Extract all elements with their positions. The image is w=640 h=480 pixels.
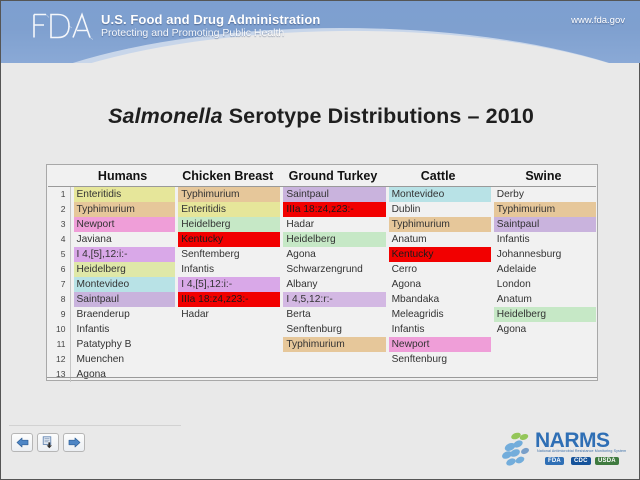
agency-badge-cdc: CDC <box>571 457 591 465</box>
agency-badge-fda: FDA <box>545 457 564 465</box>
cell-chicken-breast: Heidelberg <box>175 217 280 232</box>
page-title: Salmonella Serotype Distributions – 2010 <box>1 104 640 129</box>
serotype-label: I 4,[5],12:i:- <box>178 277 280 292</box>
cell-ground-turkey: Berta <box>280 307 385 322</box>
cell-swine: Typhimurium <box>491 202 596 217</box>
row-number: 2 <box>48 202 70 217</box>
cell-cattle: Dublin <box>386 202 491 217</box>
cell-swine: Infantis <box>491 232 596 247</box>
cell-swine <box>491 367 596 382</box>
serotype-label: Newport <box>389 337 491 352</box>
table-row: 2TyphimuriumEnteritidisIIIa 18:z4,z23:-D… <box>48 202 596 217</box>
serotype-label: Agona <box>494 322 596 337</box>
cell-swine: Saintpaul <box>491 217 596 232</box>
serotype-label: IIIa 18:z4,z23:- <box>283 202 385 217</box>
serotype-label: Cerro <box>389 262 491 277</box>
serotype-label: Albany <box>283 277 385 292</box>
serotype-label: Typhimurium <box>389 217 491 232</box>
cell-swine: London <box>491 277 596 292</box>
fda-website-url[interactable]: www.fda.gov <box>571 15 625 26</box>
cell-chicken-breast <box>175 367 280 382</box>
cell-cattle: Meleagridis <box>386 307 491 322</box>
serotype-label: Muenchen <box>74 352 176 367</box>
cell-cattle: Newport <box>386 337 491 352</box>
cell-cattle: Kentucky <box>386 247 491 262</box>
table-body: 1EnteritidisTyphimuriumSaintpaulMontevid… <box>48 186 596 382</box>
cell-chicken-breast: Kentucky <box>175 232 280 247</box>
serotype-label: Patatyphy B <box>74 337 176 352</box>
row-number: 1 <box>48 186 70 202</box>
serotype-label: Dublin <box>389 202 491 217</box>
serotype-label: Heidelberg <box>283 232 385 247</box>
cell-chicken-breast <box>175 337 280 352</box>
cell-ground-turkey: Agona <box>280 247 385 262</box>
row-number: 10 <box>48 322 70 337</box>
table-row: 1EnteritidisTyphimuriumSaintpaulMontevid… <box>48 186 596 202</box>
serotype-label: Heidelberg <box>494 307 596 322</box>
table-row: 10InfantisSenftenburgInfantisAgona <box>48 322 596 337</box>
serotype-label: Kentucky <box>389 247 491 262</box>
table-header-row: Humans Chicken Breast Ground Turkey Catt… <box>48 166 596 186</box>
table-row: 9BraenderupHadarBertaMeleagridisHeidelbe… <box>48 307 596 322</box>
serotype-label: I 4,5,12:r:- <box>283 292 385 307</box>
cell-humans: Newport <box>70 217 175 232</box>
serotype-label <box>494 367 596 382</box>
cell-ground-turkey: Hadar <box>280 217 385 232</box>
cell-humans: Javiana <box>70 232 175 247</box>
serotype-label: Enteritidis <box>74 187 176 202</box>
row-number: 9 <box>48 307 70 322</box>
fda-title: U.S. Food and Drug Administration <box>101 12 320 27</box>
cell-ground-turkey: Saintpaul <box>280 186 385 202</box>
table-row: 11Patatyphy BTyphimuriumNewport <box>48 337 596 352</box>
cell-ground-turkey: Schwarzengrund <box>280 262 385 277</box>
serotype-label: Heidelberg <box>74 262 176 277</box>
cell-chicken-breast: Infantis <box>175 262 280 277</box>
serotype-label: Enteritidis <box>178 202 280 217</box>
narms-logo: NARMS National Antimicrobial Resistance … <box>501 429 621 473</box>
row-number: 6 <box>48 262 70 277</box>
fda-title-block: U.S. Food and Drug Administration Protec… <box>101 12 320 40</box>
table-row: 7MontevideoI 4,[5],12:i:-AlbanyAgonaLond… <box>48 277 596 292</box>
serotype-label: Infantis <box>74 322 176 337</box>
column-header-cattle: Cattle <box>386 166 491 186</box>
column-header-swine: Swine <box>491 166 596 186</box>
cell-humans: Infantis <box>70 322 175 337</box>
cell-ground-turkey: Heidelberg <box>280 232 385 247</box>
cell-swine: Johannesburg <box>491 247 596 262</box>
serotype-label: Montevideo <box>74 277 176 292</box>
fda-header-band: U.S. Food and Drug Administration Protec… <box>1 1 640 63</box>
serotype-label: Senftemberg <box>178 247 280 262</box>
cell-humans: Patatyphy B <box>70 337 175 352</box>
cell-cattle: Agona <box>386 277 491 292</box>
serotype-label <box>389 367 491 382</box>
cell-humans: Enteritidis <box>70 186 175 202</box>
serotype-label <box>178 337 280 352</box>
serotype-label <box>178 352 280 367</box>
serotype-label: Anatum <box>389 232 491 247</box>
table-row: 4JavianaKentuckyHeidelbergAnatumInfantis <box>48 232 596 247</box>
cell-cattle: Mbandaka <box>386 292 491 307</box>
previous-slide-button[interactable] <box>11 433 33 452</box>
table-bottom-rule <box>47 377 597 378</box>
narms-tagline: National Antimicrobial Resistance Monito… <box>537 449 626 453</box>
serotype-label <box>178 322 280 337</box>
cell-swine <box>491 352 596 367</box>
serotype-label: Javiana <box>74 232 176 247</box>
row-number: 8 <box>48 292 70 307</box>
cell-humans: Montevideo <box>70 277 175 292</box>
cell-ground-turkey: I 4,5,12:r:- <box>280 292 385 307</box>
serotype-label: I 4,[5],12:i:- <box>74 247 176 262</box>
slide-navigation-toolbar <box>11 433 85 452</box>
cell-cattle: Montevideo <box>386 186 491 202</box>
serotype-label <box>283 352 385 367</box>
cell-swine: Anatum <box>491 292 596 307</box>
serotype-label: Newport <box>74 217 176 232</box>
serotype-label: Senftenburg <box>283 322 385 337</box>
table-row: 8SaintpaulIIIa 18:z4,z23:-I 4,5,12:r:-Mb… <box>48 292 596 307</box>
serotype-label: Typhimurium <box>283 337 385 352</box>
slide-viewer: U.S. Food and Drug Administration Protec… <box>0 0 640 480</box>
serotype-label: Typhimurium <box>74 202 176 217</box>
serotype-label: Saintpaul <box>74 292 176 307</box>
serotype-label: Johannesburg <box>494 247 596 262</box>
serotype-label: Derby <box>494 187 596 202</box>
serotype-label: Saintpaul <box>494 217 596 232</box>
serotype-label: Montevideo <box>389 187 491 202</box>
cell-ground-turkey <box>280 367 385 382</box>
serotype-label: Heidelberg <box>178 217 280 232</box>
column-header-ground-turkey: Ground Turkey <box>280 166 385 186</box>
cell-swine: Heidelberg <box>491 307 596 322</box>
cell-cattle: Cerro <box>386 262 491 277</box>
row-number-header <box>48 166 70 186</box>
serotype-label: Hadar <box>283 217 385 232</box>
cell-cattle: Typhimurium <box>386 217 491 232</box>
serotype-label: Anatum <box>494 292 596 307</box>
serotype-label <box>494 352 596 367</box>
fda-subtitle: Protecting and Promoting Public Health <box>101 27 320 40</box>
cell-ground-turkey: Albany <box>280 277 385 292</box>
serotype-label: Braenderup <box>74 307 176 322</box>
serotype-label: Infantis <box>389 322 491 337</box>
serotype-label <box>494 337 596 352</box>
serotype-table-frame: Humans Chicken Breast Ground Turkey Catt… <box>46 164 598 381</box>
cell-swine: Derby <box>491 186 596 202</box>
row-number: 4 <box>48 232 70 247</box>
row-number: 11 <box>48 337 70 352</box>
cell-humans: Braenderup <box>70 307 175 322</box>
cell-cattle: Infantis <box>386 322 491 337</box>
cell-chicken-breast <box>175 322 280 337</box>
cell-chicken-breast: I 4,[5],12:i:- <box>175 277 280 292</box>
serotype-label: Infantis <box>494 232 596 247</box>
serotype-label: Agona <box>74 367 176 382</box>
arrow-right-icon <box>68 437 81 448</box>
cell-cattle: Senftenburg <box>386 352 491 367</box>
serotype-label: Adelaide <box>494 262 596 277</box>
cell-chicken-breast: Typhimurium <box>175 186 280 202</box>
row-number: 13 <box>48 367 70 382</box>
cell-ground-turkey: Typhimurium <box>280 337 385 352</box>
serotype-label: Infantis <box>178 262 280 277</box>
table-row: 5I 4,[5],12:i:-SenftembergAgonaKentuckyJ… <box>48 247 596 262</box>
fda-logo-icon <box>31 11 93 41</box>
cell-swine: Adelaide <box>491 262 596 277</box>
cell-chicken-breast: Senftemberg <box>175 247 280 262</box>
row-number: 7 <box>48 277 70 292</box>
column-header-humans: Humans <box>70 166 175 186</box>
serotype-label: Hadar <box>178 307 280 322</box>
serotype-label: Typhimurium <box>494 202 596 217</box>
serotype-label: Berta <box>283 307 385 322</box>
serotype-label <box>283 367 385 382</box>
cell-chicken-breast: IIIa 18:z4,z23:- <box>175 292 280 307</box>
serotype-label: IIIa 18:z4,z23:- <box>178 292 280 307</box>
cell-swine <box>491 337 596 352</box>
serotype-label: Typhimurium <box>178 187 280 202</box>
cell-humans: Agona <box>70 367 175 382</box>
arrow-left-icon <box>16 437 29 448</box>
cell-ground-turkey: Senftenburg <box>280 322 385 337</box>
cell-cattle <box>386 367 491 382</box>
table-row: 13Agona <box>48 367 596 382</box>
cell-humans: Typhimurium <box>70 202 175 217</box>
serotype-label: London <box>494 277 596 292</box>
page-title-rest: Serotype Distributions – 2010 <box>223 104 534 128</box>
serotype-label: Schwarzengrund <box>283 262 385 277</box>
download-icon <box>42 436 55 449</box>
cell-chicken-breast: Enteritidis <box>175 202 280 217</box>
row-number: 5 <box>48 247 70 262</box>
cell-chicken-breast <box>175 352 280 367</box>
toolbar-divider <box>9 425 181 426</box>
column-header-chicken-breast: Chicken Breast <box>175 166 280 186</box>
serotype-label: Agona <box>283 247 385 262</box>
row-number: 12 <box>48 352 70 367</box>
table-row: 6HeidelbergInfantisSchwarzengrundCerroAd… <box>48 262 596 277</box>
cell-ground-turkey <box>280 352 385 367</box>
serotype-label: Saintpaul <box>283 187 385 202</box>
save-slide-button[interactable] <box>37 433 59 452</box>
cell-cattle: Anatum <box>386 232 491 247</box>
cell-humans: Heidelberg <box>70 262 175 277</box>
table-row: 3NewportHeidelbergHadarTyphimuriumSaintp… <box>48 217 596 232</box>
serotype-table: Humans Chicken Breast Ground Turkey Catt… <box>48 166 596 382</box>
page-title-genus: Salmonella <box>108 104 223 128</box>
cell-humans: Saintpaul <box>70 292 175 307</box>
serotype-label <box>178 367 280 382</box>
cell-humans: Muenchen <box>70 352 175 367</box>
serotype-label: Agona <box>389 277 491 292</box>
next-slide-button[interactable] <box>63 433 85 452</box>
serotype-label: Kentucky <box>178 232 280 247</box>
table-row: 12MuenchenSenftenburg <box>48 352 596 367</box>
cell-ground-turkey: IIIa 18:z4,z23:- <box>280 202 385 217</box>
cell-chicken-breast: Hadar <box>175 307 280 322</box>
agency-badge-usda: USDA <box>595 457 619 465</box>
serotype-label: Mbandaka <box>389 292 491 307</box>
row-number: 3 <box>48 217 70 232</box>
cell-humans: I 4,[5],12:i:- <box>70 247 175 262</box>
cell-swine: Agona <box>491 322 596 337</box>
serotype-label: Meleagridis <box>389 307 491 322</box>
serotype-label: Senftenburg <box>389 352 491 367</box>
